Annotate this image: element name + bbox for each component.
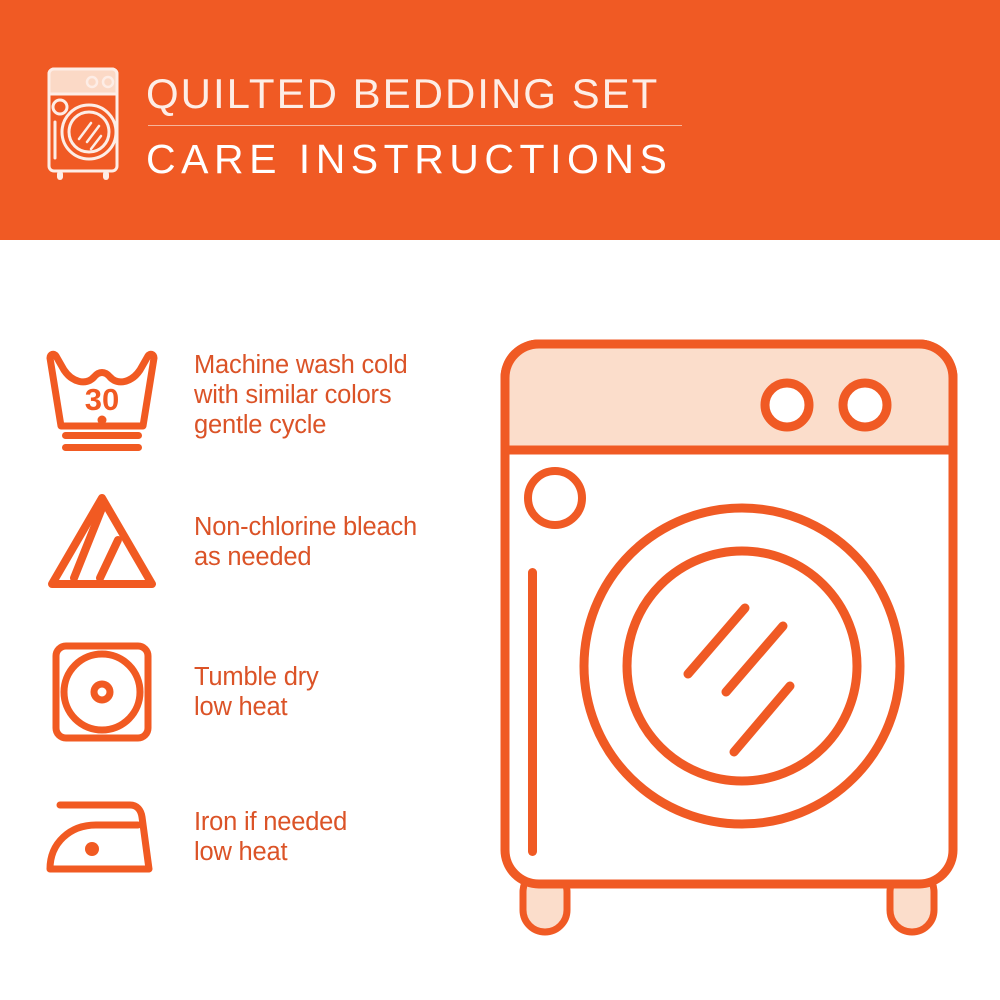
page-title: QUILTED BEDDING SET	[146, 68, 846, 120]
knob-left	[765, 383, 809, 427]
knob-right	[843, 383, 887, 427]
tumble-dry-low-heat-icon	[42, 638, 172, 758]
list-item-label: Machine wash cold with similar colors ge…	[194, 344, 407, 440]
list-item: 30 Machine wash cold with similar colors…	[0, 344, 500, 484]
page-subtitle: CARE INSTRUCTIONS	[146, 135, 846, 183]
care-instruction-list: 30 Machine wash cold with similar colors…	[0, 240, 500, 1000]
list-item-label: Iron if needed low heat	[194, 785, 347, 867]
wash-temperature-label: 30	[85, 382, 119, 417]
list-item: Iron if needed low heat	[0, 785, 500, 925]
washing-machine-icon	[44, 66, 130, 184]
list-item: Tumble dry low heat	[0, 638, 500, 778]
list-item-label: Tumble dry low heat	[194, 638, 319, 722]
iron-low-heat-icon	[42, 785, 172, 905]
list-item-label: Non-chlorine bleach as needed	[194, 488, 417, 572]
front-load-washing-machine-illustration	[480, 320, 980, 940]
title-divider	[148, 125, 682, 126]
list-item: Non-chlorine bleach as needed	[0, 488, 500, 628]
header-banner: QUILTED BEDDING SET CARE INSTRUCTIONS	[0, 0, 1000, 240]
header-title-group: QUILTED BEDDING SET CARE INSTRUCTIONS	[146, 68, 846, 183]
non-chlorine-bleach-triangle-icon	[42, 488, 172, 608]
wash-tub-30-gentle-icon: 30	[42, 344, 172, 464]
detergent-dispenser-circle	[528, 471, 582, 525]
care-instructions-infographic: QUILTED BEDDING SET CARE INSTRUCTIONS 30	[0, 0, 1000, 1000]
handle-bar	[528, 568, 537, 856]
